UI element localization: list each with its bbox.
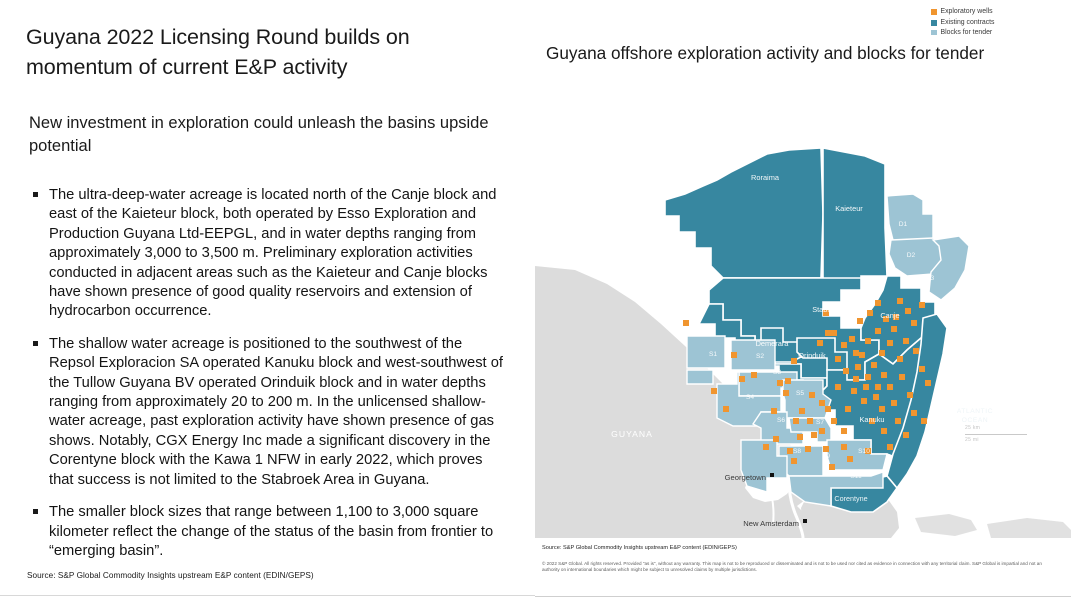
tender-block-west-stub [687,370,713,384]
map-legend: Exploratory wells Existing contracts Blo… [931,7,995,37]
label-atlantic-ocean-line2: OCEAN [962,417,988,424]
map-source-note: Source: S&P Global Commodity Insights up… [542,545,737,551]
list-item: The ultra-deep-water acreage is located … [31,186,509,322]
label-kanuku: Kanuku [859,415,884,424]
legend-label: Exploratory wells [941,7,993,17]
label-s11: S11 [850,473,862,480]
bullet-square-icon [33,341,38,346]
label-corentyne: Corentyne [834,494,867,503]
scalebar-km-label: 25 km [965,425,1031,431]
map-disclaimer-note: © 2022 S&P Global. All rights reserved. … [542,561,1060,573]
legend-swatch-icon [931,30,937,36]
list-item: The shallow water acreage is positioned … [31,335,509,490]
legend-swatch-icon [931,20,937,26]
label-atlantic-ocean-line1: ATLANTIC [957,408,993,415]
scalebar-line [965,434,1027,435]
label-s9: S9 [822,453,830,460]
footer-divider [0,595,535,596]
list-item-text: The ultra-deep-water acreage is located … [49,187,496,319]
legend-label: Blocks for tender [941,28,993,38]
label-d1: D1 [899,221,908,228]
left-content-panel: Guyana 2022 Licensing Round builds on mo… [0,0,535,603]
label-d2: D2 [907,252,916,259]
label-orinduik: Orinduik [798,351,826,360]
label-kaieteur: Kaieteur [835,204,863,213]
list-item-text: The smaller block sizes that range betwe… [49,504,493,559]
label-stabroek: Stabroek [812,305,842,314]
legend-label: Existing contracts [941,18,995,28]
label-canje: Canje [880,311,899,320]
bullet-square-icon [33,509,38,514]
slide-source-note: Source: S&P Global Commodity Insights up… [27,571,314,580]
label-s1: S1 [709,351,717,358]
label-s4: S4 [746,394,754,401]
presentation-slide: Guyana 2022 Licensing Round builds on mo… [0,0,1071,603]
map-scalebar: 25 km 25 mi [965,425,1031,443]
city-dot-new-amsterdam [803,519,807,523]
tender-block-s1 [687,336,725,368]
label-s2: S2 [756,353,764,360]
city-dot-georgetown [770,473,774,477]
map-panel: Guyana offshore exploration activity and… [535,0,1071,603]
subheading: New investment in exploration could unle… [29,112,489,158]
label-s8: S8 [793,448,801,455]
list-item: The smaller block sizes that range betwe… [31,503,509,561]
label-roraima: Roraima [751,173,780,182]
label-s10: S10 [858,448,870,455]
city-label-new-amsterdam: New Amsterdam [743,519,799,528]
label-s3: S3 [773,369,781,376]
list-item-text: The shallow water acreage is positioned … [49,336,503,488]
map-title: Guyana offshore exploration activity and… [546,42,1016,65]
label-s5: S5 [796,390,804,397]
map-graphic: Roraima Kaieteur Stabroek Canje Demerara… [535,88,1071,538]
label-s7: S7 [816,419,824,426]
city-label-georgetown: Georgetown [725,473,766,482]
legend-item-existing-contracts: Existing contracts [931,18,995,28]
bullet-list: The ultra-deep-water acreage is located … [31,186,509,574]
legend-swatch-icon [931,9,937,15]
label-d3: D3 [926,275,935,282]
map-svg: Roraima Kaieteur Stabroek Canje Demerara… [535,88,1071,538]
scalebar-mi-label: 25 mi [965,437,1031,443]
label-s6: S6 [777,417,785,424]
bullet-square-icon [33,192,38,197]
legend-item-exploratory-wells: Exploratory wells [931,7,995,17]
map-footer-divider [535,596,1071,597]
label-demerara: Demerara [756,339,790,348]
legend-item-blocks-for-tender: Blocks for tender [931,28,995,38]
label-country-guyana: GUYANA [611,429,653,439]
page-title: Guyana 2022 Licensing Round builds on mo… [26,22,496,82]
